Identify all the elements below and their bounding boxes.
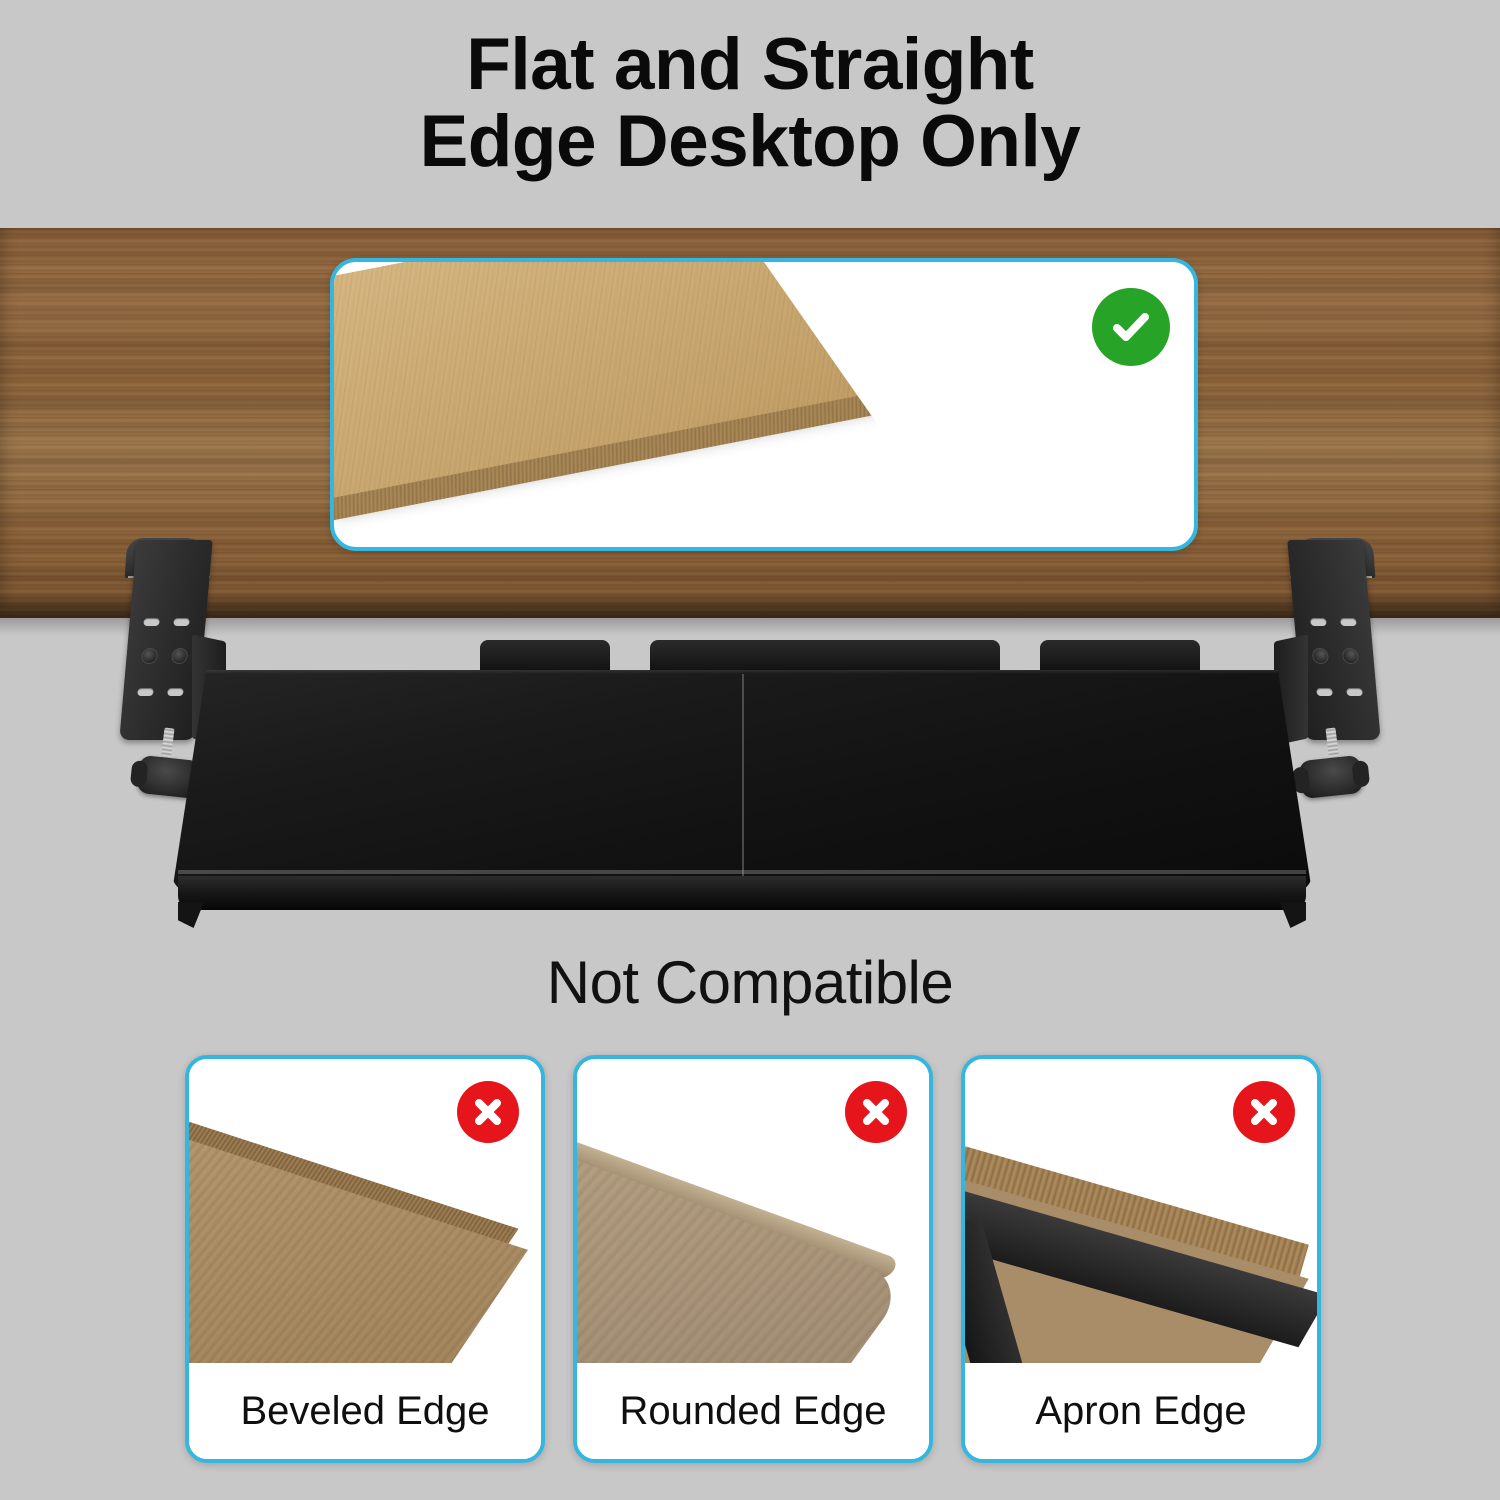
tray-foot-left [178, 902, 204, 928]
screw-hole [141, 648, 158, 664]
card-label: Apron Edge [965, 1363, 1317, 1459]
tray-foot-right [1280, 902, 1306, 928]
mounting-slot [1316, 688, 1333, 696]
incompatible-card-beveled-edge: Beveled Edge [185, 1055, 545, 1463]
x-badge-icon [457, 1081, 519, 1143]
x-badge-icon [1233, 1081, 1295, 1143]
mounting-slot [1346, 688, 1363, 696]
incompatible-card-rounded-edge: Rounded Edge [573, 1055, 933, 1463]
page-title: Flat and Straight Edge Desktop Only [0, 26, 1500, 181]
card-label: Rounded Edge [577, 1363, 929, 1459]
screw-hole [171, 648, 188, 664]
title-line-1: Flat and Straight [0, 26, 1500, 103]
mounting-slot [143, 618, 160, 626]
x-badge-icon [845, 1081, 907, 1143]
tray-front-edge [178, 876, 1306, 910]
compatible-example-card [330, 258, 1198, 551]
tray-rear-tab [1040, 640, 1200, 674]
check-badge-icon [1092, 288, 1170, 366]
mounting-slot [173, 618, 190, 626]
infographic-page: Flat and Straight Edge Desktop Only [0, 0, 1500, 1500]
tray-rear-tab [480, 640, 610, 674]
tray-rear-tab [650, 640, 1000, 674]
keyboard-tray-assembly [0, 520, 1500, 950]
card-label: Beveled Edge [189, 1363, 541, 1459]
screw-hole [1342, 648, 1359, 664]
mounting-slot [137, 688, 154, 696]
mounting-slot [1310, 618, 1327, 626]
keyboard-tray-board [172, 670, 1312, 920]
title-line-2: Edge Desktop Only [0, 103, 1500, 180]
tray-center-seam [742, 674, 744, 888]
mounting-slot [1340, 618, 1357, 626]
tray-front-highlight [178, 870, 1306, 874]
not-compatible-heading: Not Compatible [0, 948, 1500, 1017]
incompatible-card-apron-edge: Apron Edge [961, 1055, 1321, 1463]
screw-hole [1312, 648, 1329, 664]
